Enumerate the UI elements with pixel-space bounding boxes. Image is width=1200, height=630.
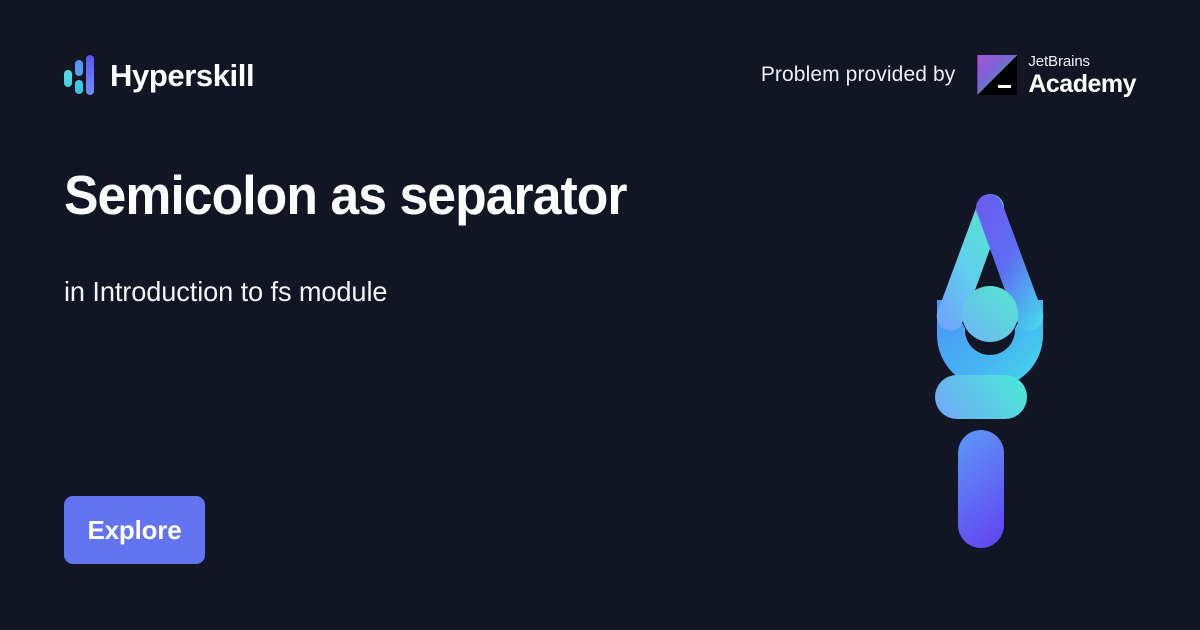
- hyperskill-academy-emblem-icon: [890, 180, 1090, 560]
- emblem-inner-circle: [962, 286, 1018, 342]
- provider-block: Problem provided by JetBrains Academy: [761, 54, 1136, 97]
- logo-bar-middle-bottom: [75, 80, 83, 94]
- jetbrains-bottom-line: Academy: [1028, 72, 1136, 97]
- hyperskill-bars-icon: [64, 54, 94, 96]
- jetbrains-wordmark: JetBrains Academy: [1028, 54, 1136, 97]
- logo-bar-right: [86, 55, 94, 95]
- page-title: Semicolon as separator: [64, 165, 797, 227]
- main-content: Semicolon as separator in Introduction t…: [64, 165, 844, 308]
- emblem-vertical-bar: [958, 430, 1004, 548]
- logo-bar-middle-top: [75, 60, 83, 76]
- logo-bar-left: [64, 70, 72, 87]
- jetbrains-academy-logo[interactable]: JetBrains Academy: [977, 54, 1136, 97]
- jetbrains-top-line: JetBrains: [1028, 54, 1136, 69]
- provider-label: Problem provided by: [761, 63, 956, 87]
- brand-name: Hyperskill: [110, 60, 254, 91]
- jetbrains-gradient-triangle: [977, 55, 1017, 95]
- emblem-pill: [935, 375, 1027, 419]
- og-card: Hyperskill Problem provided by JetBrains…: [0, 0, 1200, 630]
- hyperskill-brand[interactable]: Hyperskill: [64, 54, 254, 96]
- page-subtitle: in Introduction to fs module: [64, 227, 821, 308]
- jetbrains-dash-icon: [998, 85, 1011, 88]
- jetbrains-square-icon: [977, 55, 1017, 95]
- emblem-triangle: [937, 194, 1043, 388]
- explore-button[interactable]: Explore: [64, 496, 205, 564]
- page-header: Hyperskill Problem provided by JetBrains…: [0, 0, 1200, 150]
